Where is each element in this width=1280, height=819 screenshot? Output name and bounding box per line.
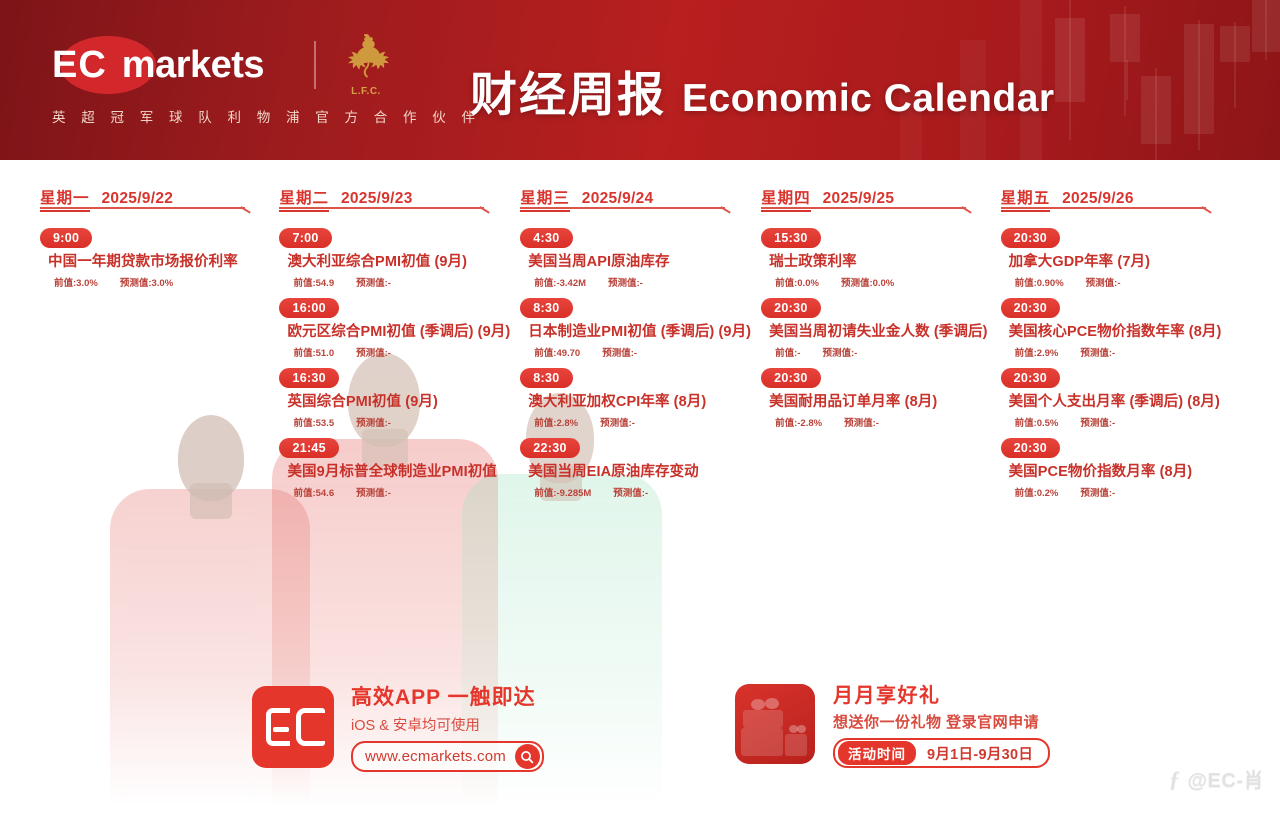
event-values: 前值:51.0预测值:-: [293, 345, 510, 359]
promo-gift-banner[interactable]: 月月享好礼 想送你一份礼物 登录官网申请 活动时间 9月1日-9月30日: [735, 679, 1050, 768]
day-header: 星期三2025/9/24: [520, 186, 751, 216]
day-column: 星期二2025/9/237:00澳大利亚综合PMI初值 (9月)前值:54.9预…: [279, 186, 520, 476]
event-forecast-value: 预测值:-: [608, 275, 643, 289]
lfc-label: L.F.C.: [338, 86, 394, 97]
promo-gift-period-dates: 9月1日-9月30日: [916, 743, 1045, 764]
day-date: 2025/9/25: [823, 190, 895, 208]
event-forecast-value: 预测值:-: [822, 345, 857, 359]
calendar-event: 21:45美国9月标普全球制造业PMI初值前值:54.6预测值:-: [279, 438, 510, 499]
event-values: 前值:49.70预测值:-: [534, 345, 751, 359]
brand-subtitle: 英 超 冠 军 球 队 利 物 浦 官 方 合 作 伙 伴: [52, 106, 402, 126]
calendar-event: 20:30美国个人支出月率 (季调后) (8月)前值:0.5%预测值:-: [1001, 368, 1230, 429]
day-date: 2025/9/26: [1062, 190, 1134, 208]
event-title: 中国一年期贷款市场报价利率: [48, 253, 269, 271]
brand-lockup: EC markets L.F.C. 英 超 冠 军 球 队 利 物 浦 官 方 …: [52, 32, 402, 126]
event-title: 澳大利亚综合PMI初值 (9月): [287, 253, 510, 271]
event-forecast-value: 预测值:3.0%: [120, 275, 173, 289]
page-title: 财经周报 Economic Calendar: [470, 56, 1055, 125]
event-forecast-value: 预测值:-: [1080, 415, 1115, 429]
event-values: 前值:-2.8%预测值:-: [775, 415, 990, 429]
calendar-event: 20:30美国当周初请失业金人数 (季调后)前值:-预测值:-: [761, 298, 990, 359]
event-values: 前值:54.6预测值:-: [293, 485, 510, 499]
day-column: 星期五2025/9/2620:30加拿大GDP年率 (7月)前值:0.90%预测…: [1001, 186, 1240, 476]
calendar-event: 20:30美国耐用品订单月率 (8月)前值:-2.8%预测值:-: [761, 368, 990, 429]
event-values: 前值:-9.285M预测值:-: [534, 485, 751, 499]
event-title: 美国个人支出月率 (季调后) (8月): [1009, 393, 1230, 411]
calendar-event: 8:30日本制造业PMI初值 (季调后) (9月)前值:49.70预测值:-: [520, 298, 751, 359]
event-previous-value: 前值:54.9: [293, 275, 334, 289]
search-icon[interactable]: [515, 744, 540, 769]
event-time-badge: 20:30: [1001, 298, 1060, 318]
website-url-text: www.ecmarkets.com: [365, 748, 506, 765]
promo-app-subline: iOS & 安卓均可使用: [351, 714, 544, 735]
event-time-badge: 21:45: [279, 438, 338, 458]
event-values: 前值:0.5%预测值:-: [1015, 415, 1230, 429]
event-previous-value: 前值:3.0%: [54, 275, 98, 289]
event-values: 前值:0.0%预测值:0.0%: [775, 275, 990, 289]
gift-box-icon: [735, 684, 815, 764]
promo-gift-headline: 月月享好礼: [833, 679, 1050, 708]
event-previous-value: 前值:-9.285M: [534, 485, 591, 499]
event-title: 美国当周初请失业金人数 (季调后): [769, 323, 990, 341]
event-forecast-value: 预测值:0.0%: [841, 275, 894, 289]
title-chinese: 财经周报: [470, 56, 666, 125]
calendar-event: 4:30美国当周API原油库存前值:-3.42M预测值:-: [520, 228, 751, 289]
event-title: 澳大利亚加权CPI年率 (8月): [528, 393, 751, 411]
ec-markets-logo: EC markets: [52, 34, 310, 96]
event-previous-value: 前值:0.5%: [1015, 415, 1059, 429]
markets-logo-text: markets: [122, 44, 264, 87]
day-header-rule: [761, 207, 966, 209]
event-forecast-value: 预测值:-: [1080, 345, 1115, 359]
poster-root: EC markets L.F.C. 英 超 冠 军 球 队 利 物 浦 官 方 …: [0, 0, 1280, 819]
economic-calendar-grid: 星期一2025/9/229:00中国一年期贷款市场报价利率前值:3.0%预测值:…: [0, 186, 1280, 476]
event-list: 15:30瑞士政策利率前值:0.0%预测值:0.0%20:30美国当周初请失业金…: [761, 228, 990, 429]
day-header: 星期五2025/9/26: [1001, 186, 1230, 216]
day-date: 2025/9/22: [102, 190, 174, 208]
event-previous-value: 前值:53.5: [293, 415, 334, 429]
event-time-badge: 20:30: [1001, 368, 1060, 388]
title-english: Economic Calendar: [682, 77, 1055, 121]
event-title: 美国9月标普全球制造业PMI初值: [287, 463, 510, 481]
calendar-event: 9:00中国一年期贷款市场报价利率前值:3.0%预测值:3.0%: [40, 228, 269, 289]
event-forecast-value: 预测值:-: [844, 415, 879, 429]
event-time-badge: 9:00: [40, 228, 92, 248]
calendar-event: 16:00欧元区综合PMI初值 (季调后) (9月)前值:51.0预测值:-: [279, 298, 510, 359]
event-values: 前值:3.0%预测值:3.0%: [54, 275, 269, 289]
event-time-badge: 15:30: [761, 228, 820, 248]
promo-gift-period: 活动时间 9月1日-9月30日: [833, 738, 1050, 768]
event-time-badge: 20:30: [761, 298, 820, 318]
website-url-bar[interactable]: www.ecmarkets.com: [351, 741, 544, 772]
event-values: 前值:0.90%预测值:-: [1015, 275, 1230, 289]
event-time-badge: 8:30: [520, 298, 572, 318]
day-header-rule: [1001, 207, 1206, 209]
promo-app-banner[interactable]: 高效APP 一触即达 iOS & 安卓均可使用 www.ecmarkets.co…: [252, 681, 544, 772]
event-title: 美国核心PCE物价指数年率 (8月): [1009, 323, 1230, 341]
event-values: 前值:0.2%预测值:-: [1015, 485, 1230, 499]
event-previous-value: 前值:2.9%: [1015, 345, 1059, 359]
event-title: 美国当周API原油库存: [528, 253, 751, 271]
day-header: 星期四2025/9/25: [761, 186, 990, 216]
event-previous-value: 前值:0.0%: [775, 275, 819, 289]
event-previous-value: 前值:54.6: [293, 485, 334, 499]
event-previous-value: 前值:0.2%: [1015, 485, 1059, 499]
ec-glyph-c-icon: [296, 708, 320, 746]
event-forecast-value: 预测值:-: [356, 415, 391, 429]
event-forecast-value: 预测值:-: [1080, 485, 1115, 499]
event-time-badge: 16:00: [279, 298, 338, 318]
calendar-event: 20:30美国PCE物价指数月率 (8月)前值:0.2%预测值:-: [1001, 438, 1230, 499]
promo-app-headline: 高效APP 一触即达: [351, 681, 544, 711]
day-header-rule: [279, 207, 484, 209]
lfc-crest-icon: L.F.C.: [338, 32, 394, 98]
event-values: 前值:-3.42M预测值:-: [534, 275, 751, 289]
watermark-f-icon: ƒ: [1169, 766, 1181, 792]
event-previous-value: 前值:49.70: [534, 345, 580, 359]
event-values: 前值:2.9%预测值:-: [1015, 345, 1230, 359]
watermark-handle: @EC-肖: [1188, 764, 1264, 793]
calendar-event: 8:30澳大利亚加权CPI年率 (8月)前值:2.8%预测值:-: [520, 368, 751, 429]
event-previous-value: 前值:2.8%: [534, 415, 578, 429]
event-forecast-value: 预测值:-: [602, 345, 637, 359]
event-list: 7:00澳大利亚综合PMI初值 (9月)前值:54.9预测值:-16:00欧元区…: [279, 228, 510, 499]
event-title: 瑞士政策利率: [769, 253, 990, 271]
event-list: 4:30美国当周API原油库存前值:-3.42M预测值:-8:30日本制造业PM…: [520, 228, 751, 499]
event-time-badge: 20:30: [761, 368, 820, 388]
day-column: 星期三2025/9/244:30美国当周API原油库存前值:-3.42M预测值:…: [520, 186, 761, 476]
day-header: 星期一2025/9/22: [40, 186, 269, 216]
event-time-badge: 20:30: [1001, 228, 1060, 248]
event-forecast-value: 预测值:-: [613, 485, 648, 499]
event-values: 前值:-预测值:-: [775, 345, 990, 359]
event-values: 前值:53.5预测值:-: [293, 415, 510, 429]
event-forecast-value: 预测值:-: [1086, 275, 1121, 289]
calendar-event: 20:30美国核心PCE物价指数年率 (8月)前值:2.9%预测值:-: [1001, 298, 1230, 359]
day-column: 星期四2025/9/2515:30瑞士政策利率前值:0.0%预测值:0.0%20…: [761, 186, 1000, 476]
event-previous-value: 前值:51.0: [293, 345, 334, 359]
event-list: 9:00中国一年期贷款市场报价利率前值:3.0%预测值:3.0%: [40, 228, 269, 289]
calendar-event: 7:00澳大利亚综合PMI初值 (9月)前值:54.9预测值:-: [279, 228, 510, 289]
event-previous-value: 前值:-: [775, 345, 800, 359]
event-list: 20:30加拿大GDP年率 (7月)前值:0.90%预测值:-20:30美国核心…: [1001, 228, 1230, 499]
event-title: 美国PCE物价指数月率 (8月): [1009, 463, 1230, 481]
event-time-badge: 20:30: [1001, 438, 1060, 458]
event-time-badge: 8:30: [520, 368, 572, 388]
day-header-rule: [40, 207, 245, 209]
event-time-badge: 7:00: [279, 228, 331, 248]
event-values: 前值:54.9预测值:-: [293, 275, 510, 289]
promo-gift-subline: 想送你一份礼物 登录官网申请: [833, 711, 1050, 732]
calendar-event: 22:30美国当周EIA原油库存变动前值:-9.285M预测值:-: [520, 438, 751, 499]
event-forecast-value: 预测值:-: [356, 345, 391, 359]
header-banner: EC markets L.F.C. 英 超 冠 军 球 队 利 物 浦 官 方 …: [0, 0, 1280, 160]
event-values: 前值:2.8%预测值:-: [534, 415, 751, 429]
event-title: 英国综合PMI初值 (9月): [287, 393, 510, 411]
event-previous-value: 前值:0.90%: [1015, 275, 1064, 289]
event-title: 欧元区综合PMI初值 (季调后) (9月): [287, 323, 510, 341]
event-forecast-value: 预测值:-: [600, 415, 635, 429]
event-title: 美国当周EIA原油库存变动: [528, 463, 751, 481]
day-header: 星期二2025/9/23: [279, 186, 510, 216]
calendar-event: 16:30英国综合PMI初值 (9月)前值:53.5预测值:-: [279, 368, 510, 429]
event-title: 美国耐用品订单月率 (8月): [769, 393, 990, 411]
event-time-badge: 4:30: [520, 228, 572, 248]
event-previous-value: 前值:-3.42M: [534, 275, 586, 289]
day-date: 2025/9/24: [582, 190, 654, 208]
event-time-badge: 16:30: [279, 368, 338, 388]
ec-logo-text: EC: [52, 44, 107, 87]
calendar-event: 15:30瑞士政策利率前值:0.0%预测值:0.0%: [761, 228, 990, 289]
day-date: 2025/9/23: [341, 190, 413, 208]
promo-gift-period-label: 活动时间: [838, 741, 916, 765]
event-title: 日本制造业PMI初值 (季调后) (9月): [528, 323, 751, 341]
event-time-badge: 22:30: [520, 438, 579, 458]
ec-app-icon: [252, 686, 334, 768]
event-forecast-value: 预测值:-: [356, 275, 391, 289]
event-title: 加拿大GDP年率 (7月): [1009, 253, 1230, 271]
event-previous-value: 前值:-2.8%: [775, 415, 822, 429]
event-forecast-value: 预测值:-: [356, 485, 391, 499]
day-header-rule: [520, 207, 725, 209]
day-column: 星期一2025/9/229:00中国一年期贷款市场报价利率前值:3.0%预测值:…: [40, 186, 279, 476]
brand-divider: [314, 41, 316, 89]
watermark: ƒ @EC-肖: [1169, 764, 1264, 793]
ec-glyph-e-icon: [266, 708, 290, 746]
calendar-event: 20:30加拿大GDP年率 (7月)前值:0.90%预测值:-: [1001, 228, 1230, 289]
